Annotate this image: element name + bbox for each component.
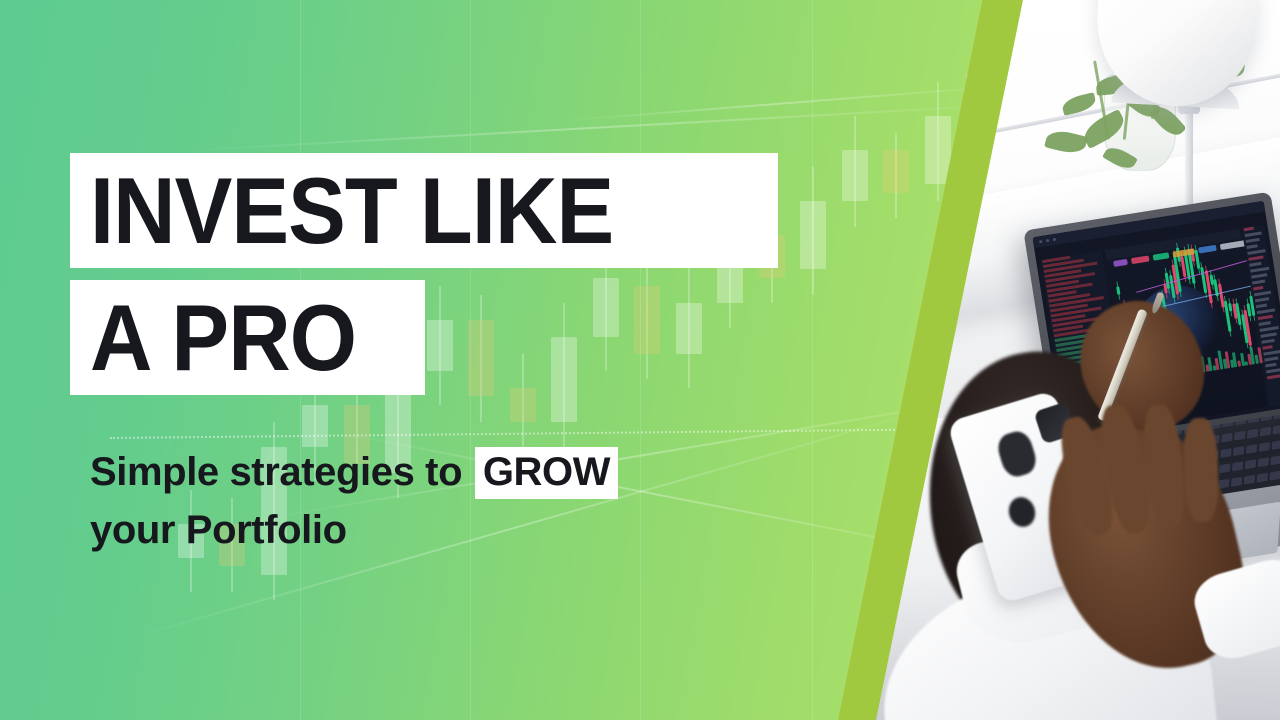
side-panel-row: [1251, 273, 1267, 278]
side-panel-row: [1266, 368, 1280, 374]
side-panel-row: [1258, 315, 1273, 320]
banner-canvas: INVEST LIKE A PRO Simple strategies to G…: [0, 0, 1280, 720]
keyboard-key: [1270, 455, 1280, 465]
side-panel-row: [1265, 363, 1276, 368]
subtitle-highlight-grow: GROW: [475, 447, 618, 499]
headline-line-1-text: INVEST LIKE: [90, 164, 613, 258]
keyboard-key: [1234, 431, 1245, 441]
headline-line-1: INVEST LIKE: [70, 153, 778, 268]
keyboard-key: [1245, 459, 1256, 469]
chart-toolbar-pill: [1153, 252, 1170, 260]
keyboard-key: [1221, 433, 1232, 443]
keyboard-key: [1258, 457, 1269, 467]
chart-gridline: [640, 0, 641, 720]
side-panel-row: [1267, 374, 1280, 379]
keyboard-key: [1273, 425, 1280, 435]
keyboard-key: [1269, 471, 1280, 481]
keyboard-key: [1244, 475, 1255, 485]
keyboard-key: [1220, 448, 1231, 458]
subtitle-text-after: your Portfolio: [90, 508, 347, 552]
side-panel-row: [1247, 249, 1265, 255]
trend-line: [180, 104, 999, 152]
candle-body: [510, 388, 536, 422]
side-panel-row: [1249, 262, 1261, 267]
side-panel-row: [1264, 356, 1278, 361]
candle-body: [634, 286, 660, 354]
side-panel-row: [1250, 267, 1269, 273]
side-panel-row: [1248, 256, 1263, 261]
side-panel-row: [1256, 304, 1267, 309]
side-panel-row: [1252, 280, 1265, 285]
side-panel-row: [1255, 297, 1269, 302]
keyboard-key: [1231, 477, 1242, 487]
candle-body: [676, 303, 702, 354]
candle-body: [468, 320, 494, 396]
subtitle: Simple strategies to GROW your Portfolio: [90, 443, 770, 559]
side-panel-row: [1245, 232, 1262, 238]
keyboard-key: [1219, 463, 1230, 473]
keyboard-key: [1247, 429, 1258, 439]
keyboard-key: [1257, 473, 1268, 483]
price-level-dotted-line: [110, 428, 990, 439]
candle-body: [593, 278, 619, 337]
screen-candle-body: [1116, 286, 1120, 294]
chart-toolbar-pill: [1198, 245, 1217, 254]
side-panel-row: [1259, 321, 1271, 326]
candle-body: [551, 337, 577, 422]
side-panel-row: [1244, 227, 1254, 232]
chart-gridline: [812, 0, 813, 720]
chart-toolbar-pill: [1220, 240, 1247, 250]
candle-body: [842, 150, 868, 201]
keyboard-key: [1232, 461, 1243, 471]
side-panel-row: [1260, 332, 1276, 337]
keyboard-key: [1260, 427, 1271, 437]
chart-toolbar-pill: [1113, 259, 1128, 267]
chart-gridline: [470, 0, 471, 720]
candle-body: [427, 320, 453, 371]
candle-body: [302, 405, 328, 447]
subtitle-text-before: Simple strategies to: [90, 450, 473, 494]
headline-line-2-text: A PRO: [90, 291, 356, 385]
side-panel-row: [1263, 350, 1280, 356]
side-panel-row: [1254, 291, 1271, 297]
candle-body: [883, 150, 909, 192]
keyboard-key: [1272, 440, 1280, 450]
side-panel-row: [1261, 339, 1274, 344]
keyboard-key: [1246, 444, 1257, 454]
side-panel-row: [1245, 238, 1259, 243]
keyboard-key: [1259, 442, 1270, 452]
chart-toolbar-pill: [1131, 255, 1150, 264]
headline-line-2: A PRO: [70, 280, 425, 395]
candle-body: [925, 116, 951, 184]
side-panel-row: [1262, 345, 1272, 350]
candle-body: [800, 201, 826, 269]
side-panel-row: [1246, 244, 1257, 249]
side-panel-row: [1253, 286, 1263, 291]
side-panel-row: [1257, 308, 1275, 314]
keyboard-key: [1233, 446, 1244, 456]
side-panel-row: [1260, 326, 1279, 332]
